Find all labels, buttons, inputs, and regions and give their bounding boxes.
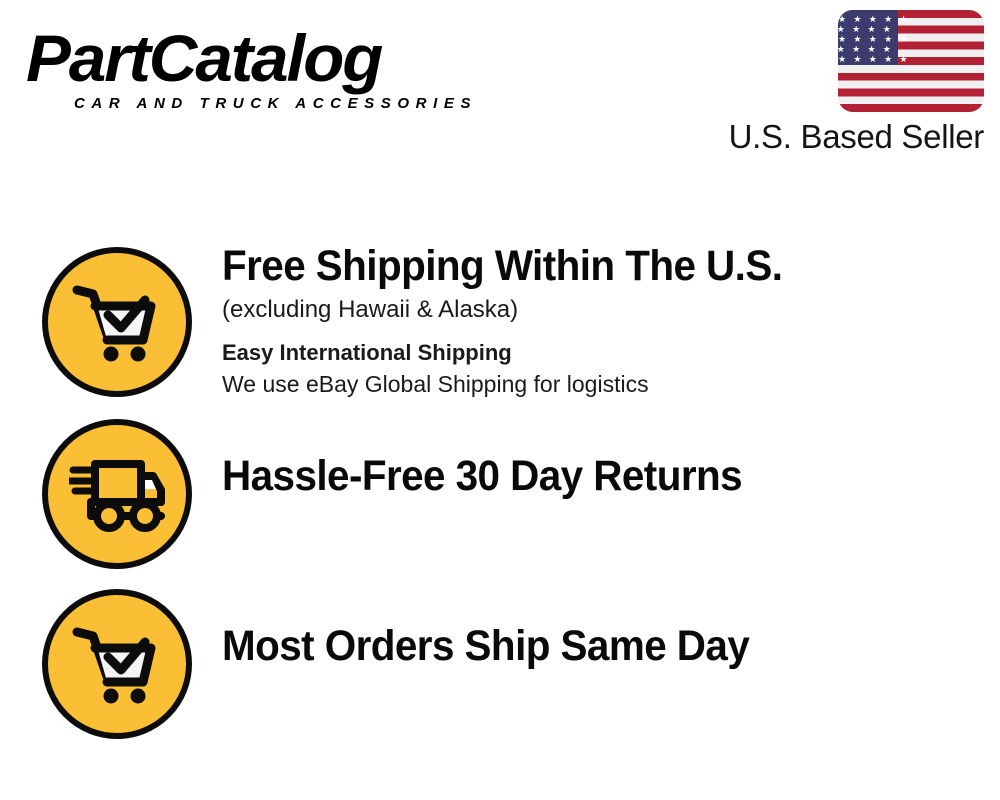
feature-sub-bold: Easy International Shipping	[222, 339, 982, 367]
logo-tagline: CAR AND TRUCK ACCESSORIES	[74, 95, 496, 113]
flag-star-row: ★ ★ ★ ★ ★	[838, 55, 898, 64]
shopping-cart-check-icon	[42, 589, 192, 739]
feature-row: Most Orders Ship Same Day	[0, 582, 1000, 742]
feature-headline: Hassle-Free 30 Day Returns	[222, 450, 936, 502]
feature-row: Free Shipping Within The U.S. (excluding…	[0, 240, 1000, 400]
flag-star-row: ★ ★ ★ ★ ★	[838, 15, 898, 24]
flag-canton: ★ ★ ★ ★ ★ ★ ★ ★ ★ ★ ★ ★ ★ ★ ★ ★ ★ ★ ★ ★ …	[838, 10, 898, 65]
feature-headline: Free Shipping Within The U.S.	[222, 240, 936, 292]
delivery-truck-icon	[42, 419, 192, 569]
banner-header: PartCatalog CAR AND TRUCK ACCESSORIES ★ …	[0, 0, 1000, 175]
flag-star-row: ★ ★ ★ ★ ★	[838, 35, 898, 44]
flag-star-row: ★ ★ ★ ★	[838, 25, 898, 34]
us-flag-icon: ★ ★ ★ ★ ★ ★ ★ ★ ★ ★ ★ ★ ★ ★ ★ ★ ★ ★ ★ ★ …	[838, 10, 984, 112]
feature-text-block: Hassle-Free 30 Day Returns	[222, 450, 982, 502]
us-based-seller-label: U.S. Based Seller	[729, 118, 984, 156]
feature-row: Hassle-Free 30 Day Returns	[0, 412, 1000, 572]
shopping-cart-check-icon	[42, 247, 192, 397]
logo-wordmark: PartCatalog	[26, 22, 505, 94]
feature-sub-regular: We use eBay Global Shipping for logistic…	[222, 369, 982, 399]
flag-star-row: ★ ★ ★ ★	[838, 45, 898, 54]
brand-logo: PartCatalog CAR AND TRUCK ACCESSORIES	[26, 22, 496, 113]
feature-headline: Most Orders Ship Same Day	[222, 620, 936, 672]
feature-subnote: (excluding Hawaii & Alaska)	[222, 295, 982, 325]
feature-text-block: Most Orders Ship Same Day	[222, 620, 982, 672]
feature-text-block: Free Shipping Within The U.S. (excluding…	[222, 240, 982, 399]
us-based-seller-block: ★ ★ ★ ★ ★ ★ ★ ★ ★ ★ ★ ★ ★ ★ ★ ★ ★ ★ ★ ★ …	[729, 10, 984, 156]
